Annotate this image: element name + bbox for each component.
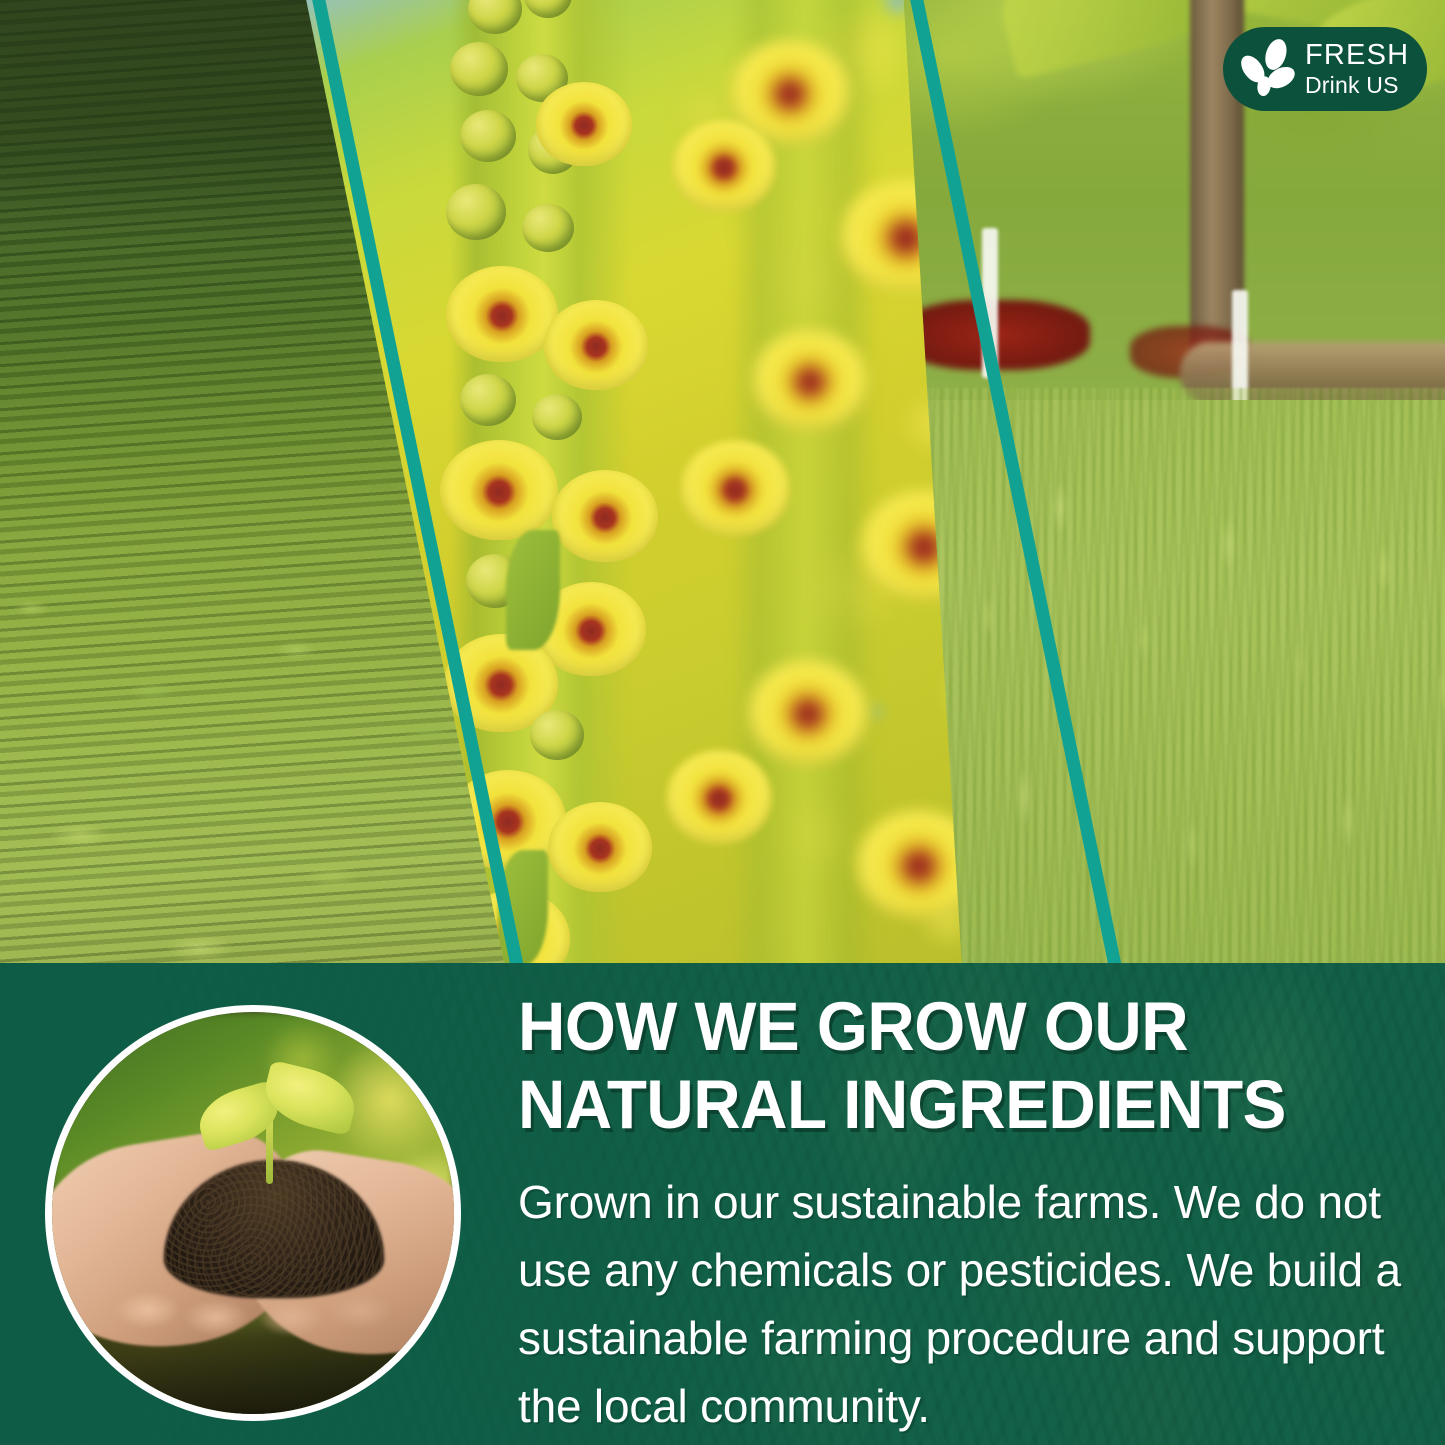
mullein-bud [446,184,506,240]
mullein-flower [680,440,790,536]
logo-title: FRESH [1305,41,1409,70]
rosemary-field-photo [880,0,1445,963]
mullein-flower [748,660,868,764]
mullein-flower [548,802,652,892]
banner-text-block: HOW WE GROW OUR NATURAL INGREDIENTS Grow… [518,988,1430,1440]
logo-text-group: FRESH Drink US [1305,41,1409,97]
rosemary-tips [880,400,1445,963]
mullein-flower [446,266,558,362]
mullein-flower [552,470,658,562]
headline-line-2: NATURAL INGREDIENTS [518,1066,1384,1144]
infographic-root: FRESH Drink US HOW WE GROW OUR NATURAL I… [0,0,1445,1445]
body-paragraph: Grown in our sustainable farms. We do no… [518,1168,1430,1440]
brand-logo-badge[interactable]: FRESH Drink US [1223,27,1427,111]
mullein-flower [752,330,868,430]
mullein-bud [460,374,516,426]
page-title: HOW WE GROW OUR NATURAL INGREDIENTS [518,988,1384,1144]
photo-band [0,0,1445,963]
headline-line-1: HOW WE GROW OUR [518,988,1384,1066]
leaf-cluster-icon [1235,36,1301,102]
logo-subtitle: Drink US [1305,74,1409,97]
mullein-flower [666,750,772,844]
mullein-flower [440,440,558,540]
mullein-bud [450,42,508,96]
mullein-flower [672,120,776,212]
mullein-bud [460,110,516,162]
mullein-bud [532,394,582,440]
mullein-flower [544,300,648,390]
hands-holding-seedling-photo [45,1005,461,1421]
mullein-leaf [506,530,560,650]
mullein-bud [530,710,584,760]
mullein-flower [536,82,632,166]
mullein-bud [522,204,574,252]
